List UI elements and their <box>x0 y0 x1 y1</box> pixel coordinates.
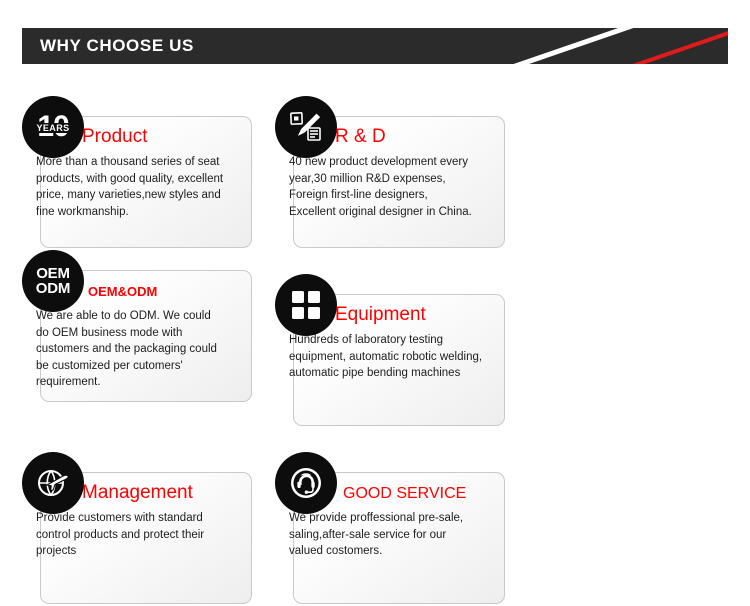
oem-odm-text-icon: OEM ODM <box>22 250 84 312</box>
card-body-equipment: Hundreds of laboratory testing equipment… <box>289 332 477 382</box>
card-body-rnd: 40 new product development every year,30… <box>289 154 477 220</box>
card-title-equipment: Equipment <box>335 304 426 326</box>
body-line: Provide customers with standard <box>36 510 224 527</box>
body-line: We provide proffessional pre-sale, <box>289 510 477 527</box>
body-line: fine workmanship. <box>36 204 224 221</box>
body-line: price, many varieties,new styles and <box>36 187 224 204</box>
body-line: saling,after-sale service for our <box>289 527 477 544</box>
body-line: Hundreds of laboratory testing <box>289 332 477 349</box>
body-line: projects <box>36 543 224 560</box>
body-line: equipment, automatic robotic welding, <box>289 349 477 366</box>
globe-airplane-icon <box>22 452 84 514</box>
card-title-oem-odm: OEM&ODM <box>88 284 157 299</box>
card-body-management: Provide customers with standard control … <box>36 510 224 560</box>
body-line: products, with good quality, excellent <box>36 171 224 188</box>
page-title: WHY CHOOSE US <box>40 28 194 64</box>
years-label: YEARS <box>35 123 70 133</box>
pencil-ruler-icon <box>275 96 337 158</box>
card-body-product: More than a thousand series of seat prod… <box>36 154 224 220</box>
card-title-management: Management <box>82 482 193 504</box>
body-line: be customized per cutomers' <box>36 358 224 375</box>
card-body-oem-odm: We are able to do ODM. We could do OEM b… <box>36 308 224 391</box>
body-line: Foreign first-line designers, <box>289 187 477 204</box>
body-line: valued costomers. <box>289 543 477 560</box>
body-line: control products and protect their <box>36 527 224 544</box>
oem-label: OEM <box>36 266 70 281</box>
card-body-good-service: We provide proffessional pre-sale, salin… <box>289 510 477 560</box>
body-line: customers and the packaging could <box>36 341 224 358</box>
card-title-good-service: GOOD SERVICE <box>343 485 466 503</box>
body-line: automatic pipe bending machines <box>289 365 477 382</box>
section-header-bar: WHY CHOOSE US <box>22 28 728 64</box>
headset-support-icon <box>275 452 337 514</box>
body-line: year,30 million R&D expenses, <box>289 171 477 188</box>
body-line: requirement. <box>36 374 224 391</box>
grid-squares-icon <box>275 274 337 336</box>
feature-card-equipment[interactable]: Equipment Hundreds of laboratory testing… <box>275 274 506 428</box>
ten-years-badge-icon: 10 YEARS <box>22 96 84 158</box>
why-choose-us-page: WHY CHOOSE US 10 YEARS Product More than… <box>0 0 750 461</box>
feature-card-good-service[interactable]: GOOD SERVICE We provide proffessional pr… <box>275 452 506 606</box>
body-line: We are able to do ODM. We could <box>36 308 224 325</box>
card-title-rnd: R & D <box>335 126 386 148</box>
body-line: More than a thousand series of seat <box>36 154 224 171</box>
card-title-product: Product <box>82 126 147 148</box>
feature-card-oem-odm[interactable]: OEM ODM OEM&ODM We are able to do ODM. W… <box>22 250 253 404</box>
feature-card-product[interactable]: 10 YEARS Product More than a thousand se… <box>22 96 253 250</box>
feature-card-management[interactable]: Management Provide customers with standa… <box>22 452 253 606</box>
body-line: do OEM business mode with <box>36 325 224 342</box>
feature-card-rnd[interactable]: R & D 40 new product development every y… <box>275 96 506 250</box>
body-line: Excellent original designer in China. <box>289 204 477 221</box>
feature-card-grid: 10 YEARS Product More than a thousand se… <box>0 96 750 606</box>
odm-label: ODM <box>36 281 70 296</box>
body-line: 40 new product development every <box>289 154 477 171</box>
